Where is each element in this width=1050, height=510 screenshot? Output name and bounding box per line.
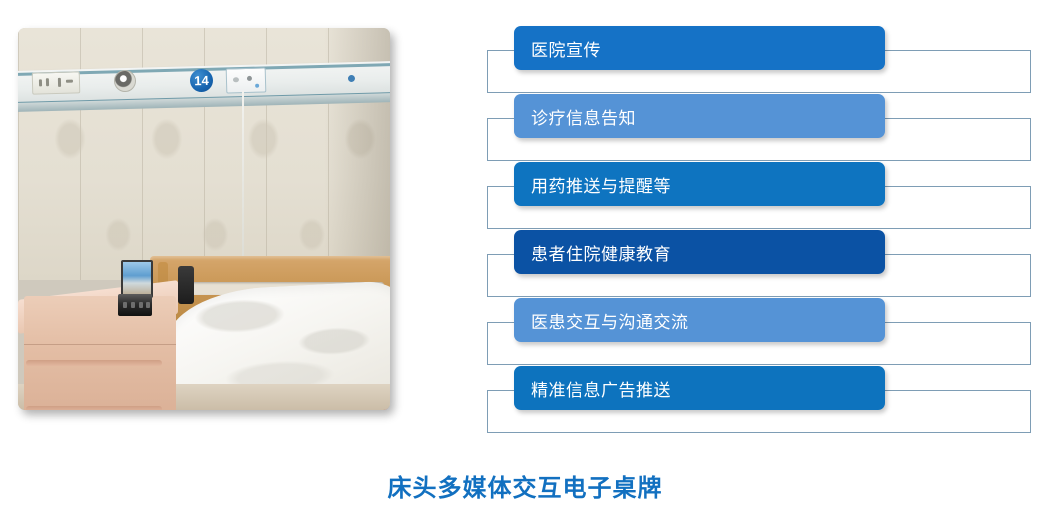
feature-list-diagram: 医院宣传 诊疗信息告知 用药推送与提醒等 患者住院健康教育 医患交互与沟通交流 … (486, 26, 1034, 434)
feature-row: 医患交互与沟通交流 (486, 298, 1034, 366)
tablet-base (118, 294, 152, 316)
photo-canvas: 14 (18, 28, 390, 410)
hospital-room-photo: 14 (18, 28, 390, 410)
feature-pill-5[interactable]: 医患交互与沟通交流 (514, 298, 885, 342)
feature-pill-6[interactable]: 精准信息广告推送 (514, 366, 885, 410)
feature-pill-1[interactable]: 医院宣传 (514, 26, 885, 70)
feature-row: 医院宣传 (486, 26, 1034, 94)
feature-row: 用药推送与提醒等 (486, 162, 1034, 230)
nightstand-drawer-handle (26, 406, 162, 410)
nightstand-drawer-handle (26, 360, 162, 366)
nurse-call-module-icon (226, 67, 267, 93)
feature-label: 医院宣传 (531, 36, 601, 61)
bed-remote-control (178, 266, 194, 304)
feature-label: 精准信息广告推送 (531, 376, 671, 401)
page-title: 床头多媒体交互电子桌牌 (0, 468, 1050, 503)
feature-label: 诊疗信息告知 (531, 104, 636, 129)
feature-label: 患者住院健康教育 (531, 240, 671, 265)
feature-pill-2[interactable]: 诊疗信息告知 (514, 94, 885, 138)
feature-label: 用药推送与提醒等 (531, 172, 671, 197)
feature-row: 患者住院健康教育 (486, 230, 1034, 298)
feature-pill-3[interactable]: 用药推送与提醒等 (514, 162, 885, 206)
power-socket-icon (32, 71, 81, 94)
feature-label: 医患交互与沟通交流 (531, 308, 689, 333)
feature-pill-4[interactable]: 患者住院健康教育 (514, 230, 885, 274)
bedside-tablet-device (118, 260, 152, 316)
nightstand (24, 296, 176, 410)
feature-row: 精准信息广告推送 (486, 366, 1034, 434)
tablet-screen (121, 260, 153, 298)
call-cord (242, 91, 244, 266)
feature-row: 诊疗信息告知 (486, 94, 1034, 162)
